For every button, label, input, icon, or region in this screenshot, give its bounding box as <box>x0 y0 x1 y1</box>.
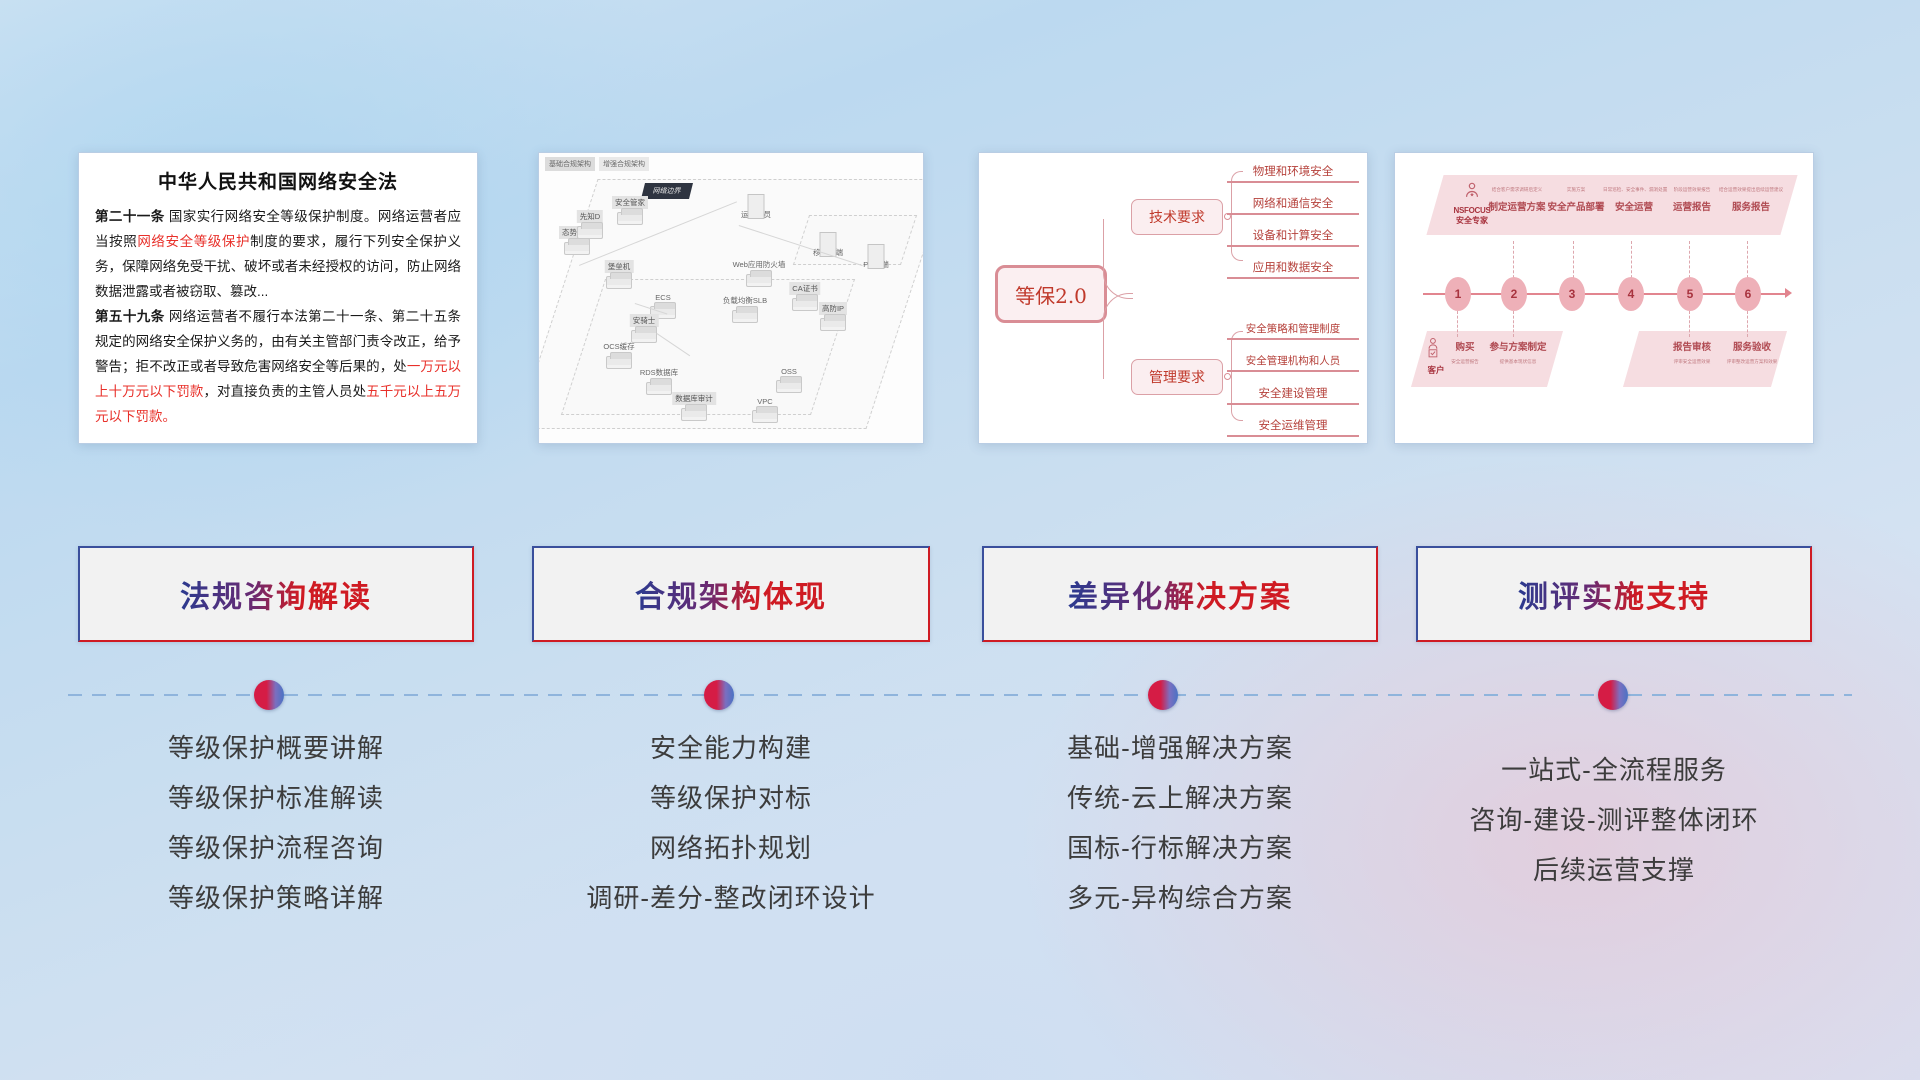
arch-node-db-audit: 数据库审计 <box>667 391 721 421</box>
timeline-dot-4[interactable] <box>1598 680 1628 710</box>
mindmap-collapse-dot-icon[interactable] <box>1224 373 1231 380</box>
mindmap-leaf: 网络和通信安全 <box>1227 195 1359 215</box>
mindmap-leaf: 应用和数据安全 <box>1227 259 1359 279</box>
mindmap-hook <box>1231 331 1243 421</box>
mindmap-curve-mgmt <box>1103 293 1133 379</box>
mindmap-branch-management: 管理要求 <box>1131 359 1223 395</box>
law-article-59: 第五十九条 网络运营者不履行本法第二十一条、第二十五条规定的网络安全保护义务的，… <box>95 305 461 430</box>
article-59-label: 第五十九条 <box>95 309 165 324</box>
detail-column-3: 基础-增强解决方案 传统-云上解决方案 国标-行标解决方案 多元-异构综合方案 <box>982 735 1378 935</box>
nsfocus-top-step: 阶段运营效果报告 运营报告 <box>1661 187 1723 213</box>
nsfocus-axis-arrow-icon <box>1785 288 1792 298</box>
arch-node-pc-terminal: PC终端 <box>855 231 897 269</box>
card-mindmap: 等保2.0 技术要求 管理要求 物理和环境安全 网络和通信安全 设备和计算安全 … <box>978 152 1368 444</box>
mindmap-leaf: 安全管理机构和人员 <box>1227 353 1359 372</box>
mindmap-curve-tech <box>1103 219 1133 299</box>
card-nsfocus-timeline: NSFOCUS 安全专家 结合客户需求调研后定义 制定运营方案 实施方案 安全产… <box>1394 152 1814 444</box>
cube-icon <box>617 212 643 225</box>
cube-icon <box>564 242 590 255</box>
nsfocus-node: 2 <box>1501 277 1527 311</box>
label-text: 测评实施支持 <box>1518 572 1710 616</box>
mindmap-leaf: 安全策略和管理制度 <box>1227 321 1359 340</box>
nsfocus-bottom-step: 购买 安全运营报告 <box>1443 339 1487 365</box>
timeline-dot-2[interactable] <box>704 680 734 710</box>
detail-item: 等级保护对标 <box>532 785 930 811</box>
mindmap-branch-technical: 技术要求 <box>1131 199 1223 235</box>
label-box-compliance-architecture[interactable]: 合规架构体现 <box>532 546 930 642</box>
cube-icon <box>606 356 632 369</box>
detail-item: 多元-异构综合方案 <box>982 885 1378 911</box>
detail-item: 网络拓扑规划 <box>532 835 930 861</box>
arch-node-bastion-host: 堡垒机 <box>595 259 643 289</box>
nsfocus-customer-role: 客户 <box>1421 364 1451 376</box>
nsfocus-bottom-step: 报告审核 评审安全运营效果 <box>1661 339 1723 365</box>
label-text: 差异化解决方案 <box>1068 572 1292 616</box>
architecture-diagram: 基础合规架构 增强合规架构 网络边界 态势感知 先知D 安全管家 堡垒机 运维人… <box>539 153 923 443</box>
detail-item: 一站式-全流程服务 <box>1416 757 1812 783</box>
article-59-text-b: ，对直接负责的主管人员处 <box>203 384 366 399</box>
nsfocus-node: 5 <box>1677 277 1703 311</box>
nsfocus-dash <box>1689 311 1690 337</box>
arch-tab-enhanced[interactable]: 增强合规架构 <box>599 157 649 171</box>
nsfocus-expert-role: 安全专家 <box>1449 215 1495 226</box>
nsfocus-node: 3 <box>1559 277 1585 311</box>
law-content: 中华人民共和国网络安全法 第二十一条 国家实行网络安全等级保护制度。网络运营者应… <box>79 153 477 440</box>
arch-node-ops-staff: 运维人员 <box>735 181 777 219</box>
mindmap-leaf: 设备和计算安全 <box>1227 227 1359 247</box>
nsfocus-bottom-step: 服务验收 评审整改运营方案和效果 <box>1719 339 1785 365</box>
nsfocus-top-step: 实施方案 安全产品部署 <box>1545 187 1607 213</box>
nsfocus-diagram: NSFOCUS 安全专家 结合客户需求调研后定义 制定运营方案 实施方案 安全产… <box>1395 153 1813 443</box>
server-icon <box>868 244 885 269</box>
detail-item: 咨询-建设-测评整体闭环 <box>1416 807 1812 833</box>
timeline-dot-3[interactable] <box>1148 680 1178 710</box>
nsfocus-dash <box>1457 311 1458 337</box>
detail-item: 基础-增强解决方案 <box>982 735 1378 761</box>
nsfocus-dash <box>1747 311 1748 337</box>
cube-icon <box>681 408 707 421</box>
article-21-label: 第二十一条 <box>95 209 165 224</box>
cube-icon <box>820 318 846 331</box>
nsfocus-node: 4 <box>1618 277 1644 311</box>
cube-icon <box>606 276 632 289</box>
label-box-assessment-support[interactable]: 测评实施支持 <box>1416 546 1812 642</box>
person-check-icon <box>1428 337 1445 359</box>
cube-icon <box>746 274 772 287</box>
article-21-highlight: 网络安全等级保护 <box>137 234 250 249</box>
law-title: 中华人民共和国网络安全法 <box>95 167 461 194</box>
cube-icon <box>752 410 778 423</box>
arch-node-security-steward: 安全管家 <box>601 195 659 225</box>
label-box-regulation-consulting[interactable]: 法规咨询解读 <box>78 546 474 642</box>
nsfocus-dash <box>1513 311 1514 337</box>
nsfocus-node: 6 <box>1735 277 1761 311</box>
nsfocus-top-step: 日常巡检、安全事件、漏洞处置 安全运营 <box>1603 187 1665 213</box>
detail-item: 传统-云上解决方案 <box>982 785 1378 811</box>
cube-icon <box>776 380 802 393</box>
detail-item: 等级保护概要讲解 <box>78 735 474 761</box>
arch-node-slb: 负载均衡SLB <box>715 293 775 323</box>
nsfocus-axis <box>1423 293 1787 295</box>
law-article-21: 第二十一条 国家实行网络安全等级保护制度。网络运营者应当按照网络安全等级保护制度… <box>95 205 461 305</box>
detail-item: 国标-行标解决方案 <box>982 835 1378 861</box>
arch-node-mobile-terminal: 移动终端 <box>807 219 849 257</box>
timeline-dashed-line <box>68 694 1852 696</box>
person-star-icon <box>1462 181 1482 201</box>
detail-item: 调研-差分-整改闭环设计 <box>532 885 930 911</box>
detail-column-2: 安全能力构建 等级保护对标 网络拓扑规划 调研-差分-整改闭环设计 <box>532 735 930 935</box>
cards-row: 中华人民共和国网络安全法 第二十一条 国家实行网络安全等级保护制度。网络运营者应… <box>0 0 1920 460</box>
detail-item: 等级保护策略详解 <box>78 885 474 911</box>
mindmap-leaf: 安全运维管理 <box>1227 417 1359 437</box>
label-box-differentiated-solution[interactable]: 差异化解决方案 <box>982 546 1378 642</box>
nsfocus-node: 1 <box>1445 277 1471 311</box>
card-law: 中华人民共和国网络安全法 第二十一条 国家实行网络安全等级保护制度。网络运营者应… <box>78 152 478 444</box>
timeline-dot-1[interactable] <box>254 680 284 710</box>
mindmap-leaf: 安全建设管理 <box>1227 385 1359 405</box>
mindmap-hook <box>1231 171 1243 261</box>
arch-node-vpc: VPC <box>747 393 783 423</box>
detail-item: 等级保护标准解读 <box>78 785 474 811</box>
label-text: 合规架构体现 <box>635 572 827 616</box>
arch-node-anti-ddos-ip: 高防IP <box>807 301 859 331</box>
cube-icon <box>577 226 603 239</box>
card-architecture: 基础合规架构 增强合规架构 网络边界 态势感知 先知D 安全管家 堡垒机 运维人… <box>538 152 924 444</box>
mindmap-leaf: 物理和环境安全 <box>1227 163 1359 183</box>
mindmap: 等保2.0 技术要求 管理要求 物理和环境安全 网络和通信安全 设备和计算安全 … <box>979 153 1367 443</box>
arch-node-oss: OSS <box>771 363 807 393</box>
nsfocus-bottom-step: 参与方案制定 提供基本现状信息 <box>1487 339 1549 365</box>
architecture-tabs: 基础合规架构 增强合规架构 <box>545 157 649 171</box>
detail-column-4: 一站式-全流程服务 咨询-建设-测评整体闭环 后续运营支撑 <box>1416 757 1812 907</box>
label-text: 法规咨询解读 <box>180 572 372 616</box>
server-icon <box>748 194 765 219</box>
detail-item: 等级保护流程咨询 <box>78 835 474 861</box>
nsfocus-top-step: 结合运营效果提出后续运营建议 服务报告 <box>1717 187 1785 213</box>
detail-item: 后续运营支撑 <box>1416 857 1812 883</box>
arch-tab-basic[interactable]: 基础合规架构 <box>545 157 595 171</box>
nsfocus-top-step: 结合客户需求调研后定义 制定运营方案 <box>1487 187 1547 213</box>
detail-item: 安全能力构建 <box>532 735 930 761</box>
cube-icon <box>732 310 758 323</box>
mindmap-root: 等保2.0 <box>995 265 1107 323</box>
detail-column-1: 等级保护概要讲解 等级保护标准解读 等级保护流程咨询 等级保护策略详解 <box>78 735 474 935</box>
